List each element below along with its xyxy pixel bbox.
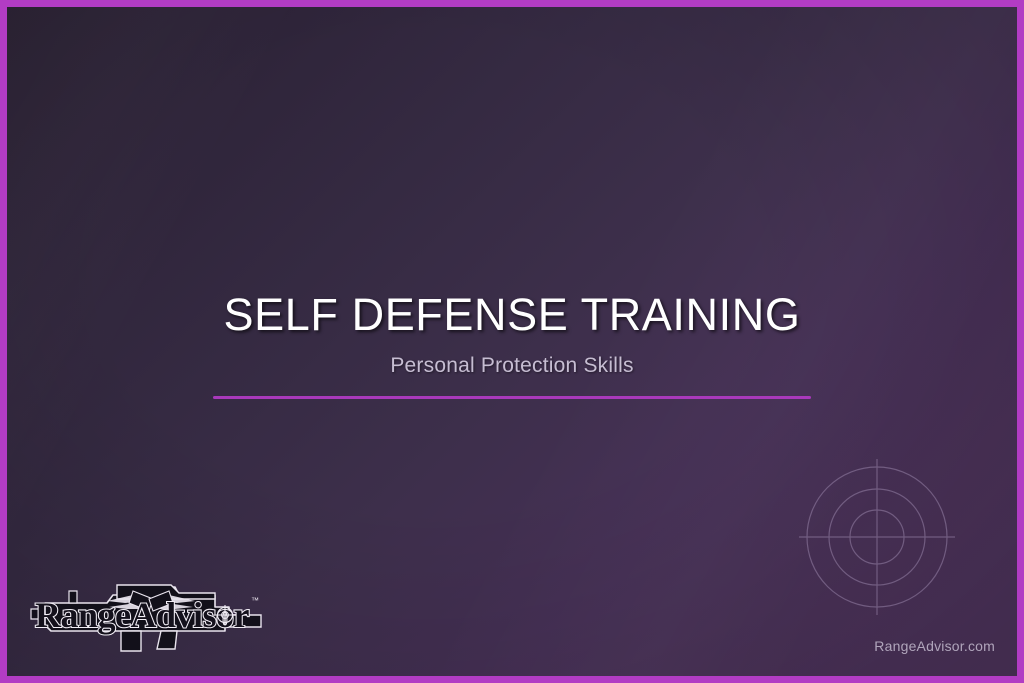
title-divider: [213, 396, 811, 399]
page-title: SELF DEFENSE TRAINING: [7, 291, 1017, 340]
trademark-mark: ™: [251, 596, 259, 605]
presentation-slide: SELF DEFENSE TRAINING Personal Protectio…: [0, 0, 1024, 683]
site-watermark: RangeAdvisor.com: [874, 638, 995, 654]
logo-wordmark: RangeAdvisor ™: [35, 595, 259, 635]
brand-logo[interactable]: RangeAdvisor ™: [29, 565, 267, 657]
title-block: SELF DEFENSE TRAINING Personal Protectio…: [7, 291, 1017, 399]
target-crosshair-icon: [797, 457, 957, 617]
page-subtitle: Personal Protection Skills: [7, 354, 1017, 378]
